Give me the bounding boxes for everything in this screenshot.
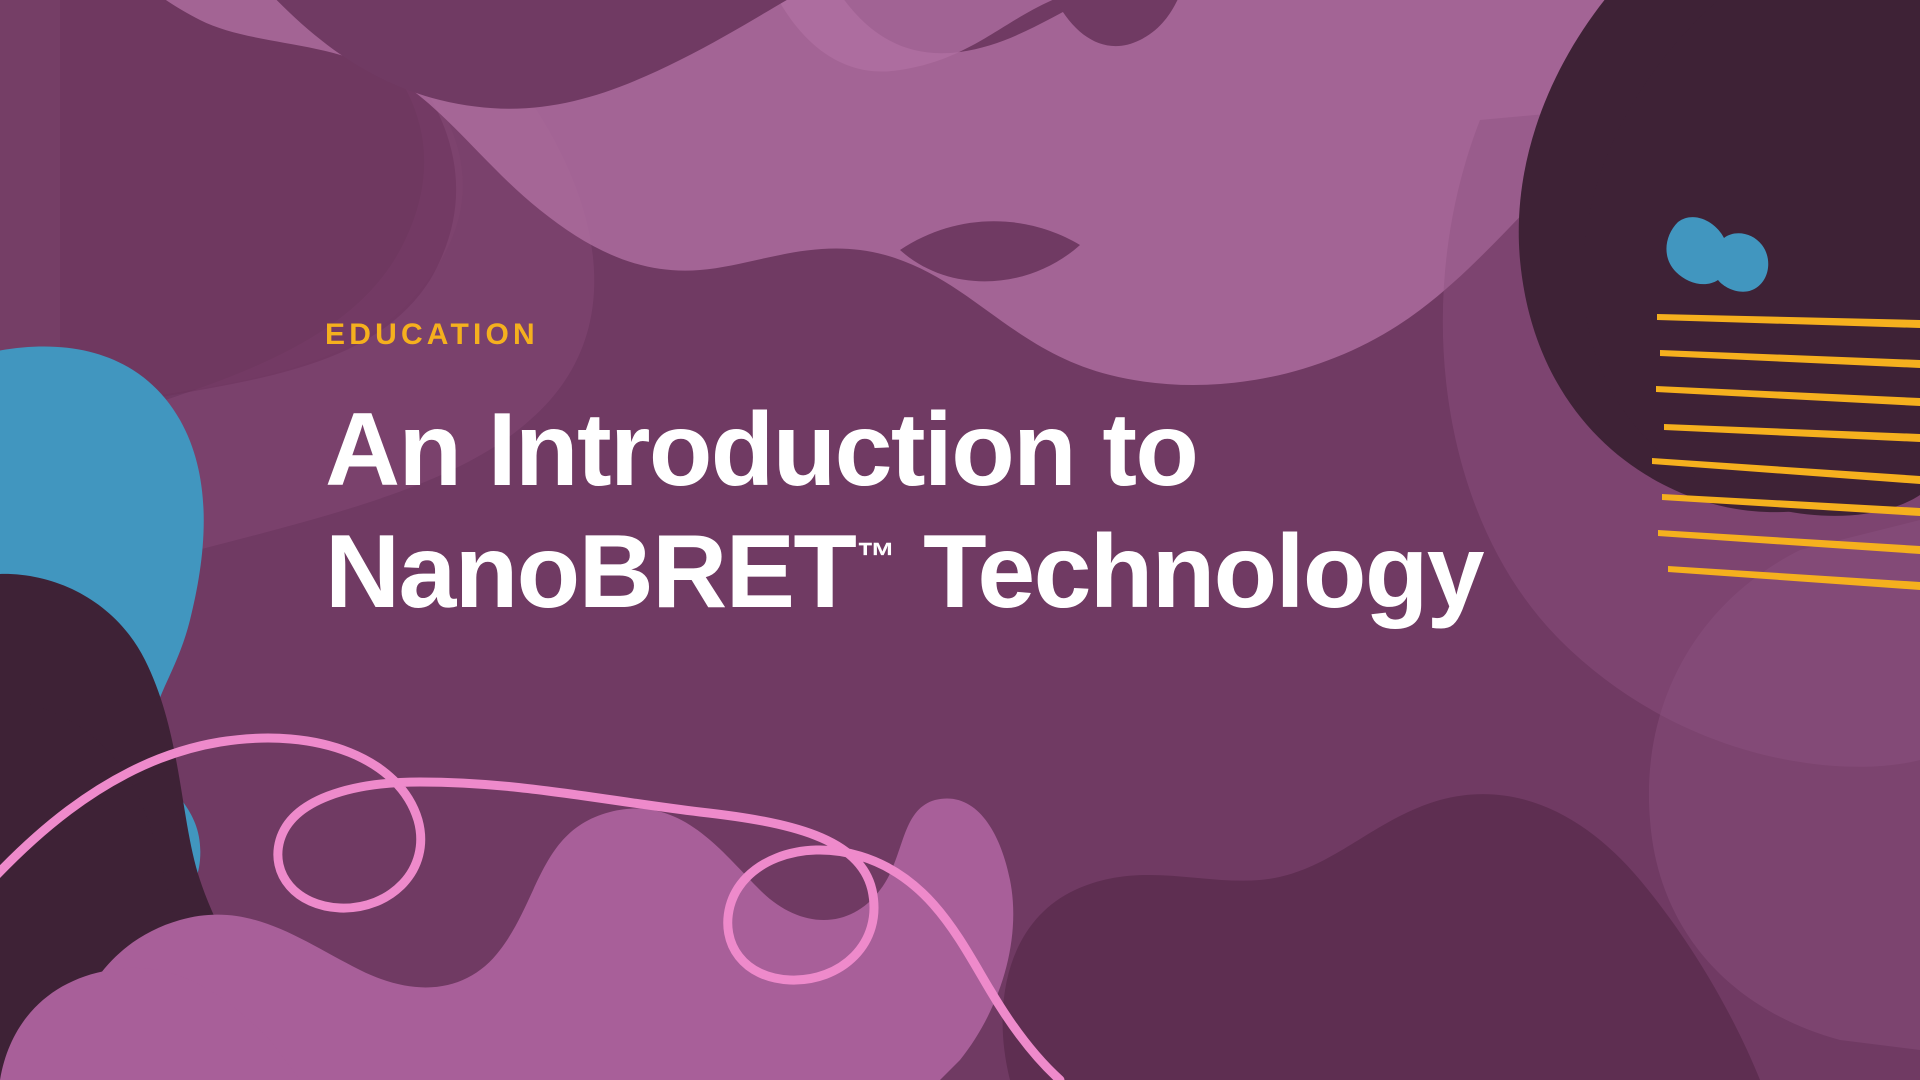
slide-content: EDUCATION An Introduction to NanoBRET™ T… bbox=[325, 320, 1625, 633]
title-product-name: NanoBRET bbox=[325, 514, 855, 630]
page-title: An Introduction to NanoBRET™ Technology bbox=[325, 390, 1625, 633]
slide-canvas: EDUCATION An Introduction to NanoBRET™ T… bbox=[0, 0, 1920, 1080]
title-line-1: An Introduction to bbox=[325, 390, 1625, 512]
trademark-symbol: ™ bbox=[856, 535, 896, 579]
title-line-2: NanoBRET™ Technology bbox=[325, 512, 1625, 634]
eyebrow-label: EDUCATION bbox=[325, 320, 1625, 350]
title-line-2-tail: Technology bbox=[896, 514, 1483, 630]
